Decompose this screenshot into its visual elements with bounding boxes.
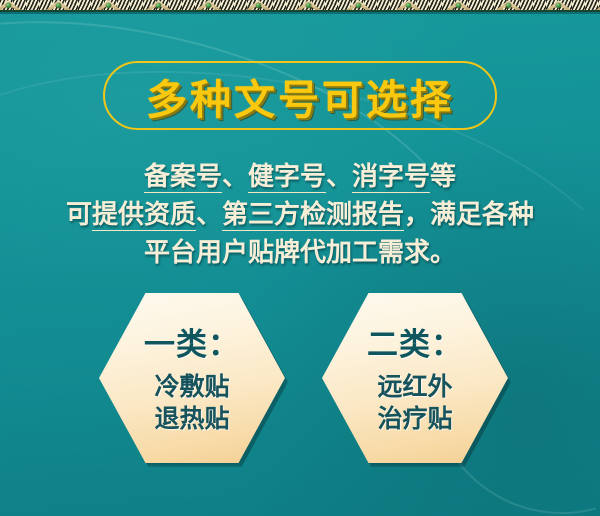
term-xiaozihao: 消字号 bbox=[352, 162, 430, 193]
border-gem-icon bbox=[406, 3, 411, 8]
separator-2: 、 bbox=[326, 162, 352, 191]
hex-card-1-item-2: 退热贴 bbox=[154, 404, 229, 436]
hex-card-1-heading: 一类： bbox=[144, 319, 240, 364]
border-gem-icon bbox=[106, 3, 111, 8]
description-line-3: 平台用户贴牌代加工需求。 bbox=[0, 234, 600, 272]
border-gem-icon bbox=[156, 3, 161, 8]
line-2-head: 可 bbox=[66, 200, 92, 229]
term-tigongzizhi: 提供资质 bbox=[92, 200, 196, 231]
term-third-party-report: 第三方检测报告 bbox=[222, 200, 404, 231]
hex-card-2-item-1: 远红外 bbox=[377, 372, 452, 404]
hex-card-2-heading: 二类： bbox=[367, 319, 463, 364]
border-gem-icon bbox=[256, 3, 261, 8]
border-rule-teal bbox=[0, 12, 600, 14]
separator-1: 、 bbox=[222, 162, 248, 191]
hex-card-2-items: 远红外 治疗贴 bbox=[377, 372, 452, 436]
promo-poster: 多种文号可选择 备案号、健字号、消字号等 可提供资质、第三方检测报告，满足各种 … bbox=[0, 0, 600, 516]
line-1-tail: 等 bbox=[430, 162, 456, 191]
border-gem-icon bbox=[506, 3, 511, 8]
hex-card-1-item-1: 冷敷贴 bbox=[154, 372, 229, 404]
border-gem-icon bbox=[356, 3, 361, 8]
border-gem-icon bbox=[206, 3, 211, 8]
border-gem-icon bbox=[556, 3, 561, 8]
hex-card-2-item-2: 治疗贴 bbox=[377, 404, 452, 436]
description-line-2: 可提供资质、第三方检测报告，满足各种 bbox=[0, 196, 600, 234]
description-line-1: 备案号、健字号、消字号等 bbox=[0, 158, 600, 196]
border-gem-icon bbox=[306, 3, 311, 8]
term-jianzihao: 健字号 bbox=[248, 162, 326, 193]
border-gem-icon bbox=[56, 3, 61, 8]
line-2-tail: ，满足各种 bbox=[404, 200, 534, 229]
separator-3: 、 bbox=[196, 200, 222, 229]
description-paragraph: 备案号、健字号、消字号等 可提供资质、第三方检测报告，满足各种 平台用户贴牌代加… bbox=[0, 158, 600, 272]
border-gem-icon bbox=[456, 3, 461, 8]
term-beianhao: 备案号 bbox=[144, 162, 222, 193]
hex-card-1-items: 冷敷贴 退热贴 bbox=[154, 372, 229, 436]
border-gem-icon bbox=[6, 3, 11, 8]
page-title: 多种文号可选择 bbox=[103, 61, 497, 130]
ornamental-top-border bbox=[0, 0, 600, 13]
